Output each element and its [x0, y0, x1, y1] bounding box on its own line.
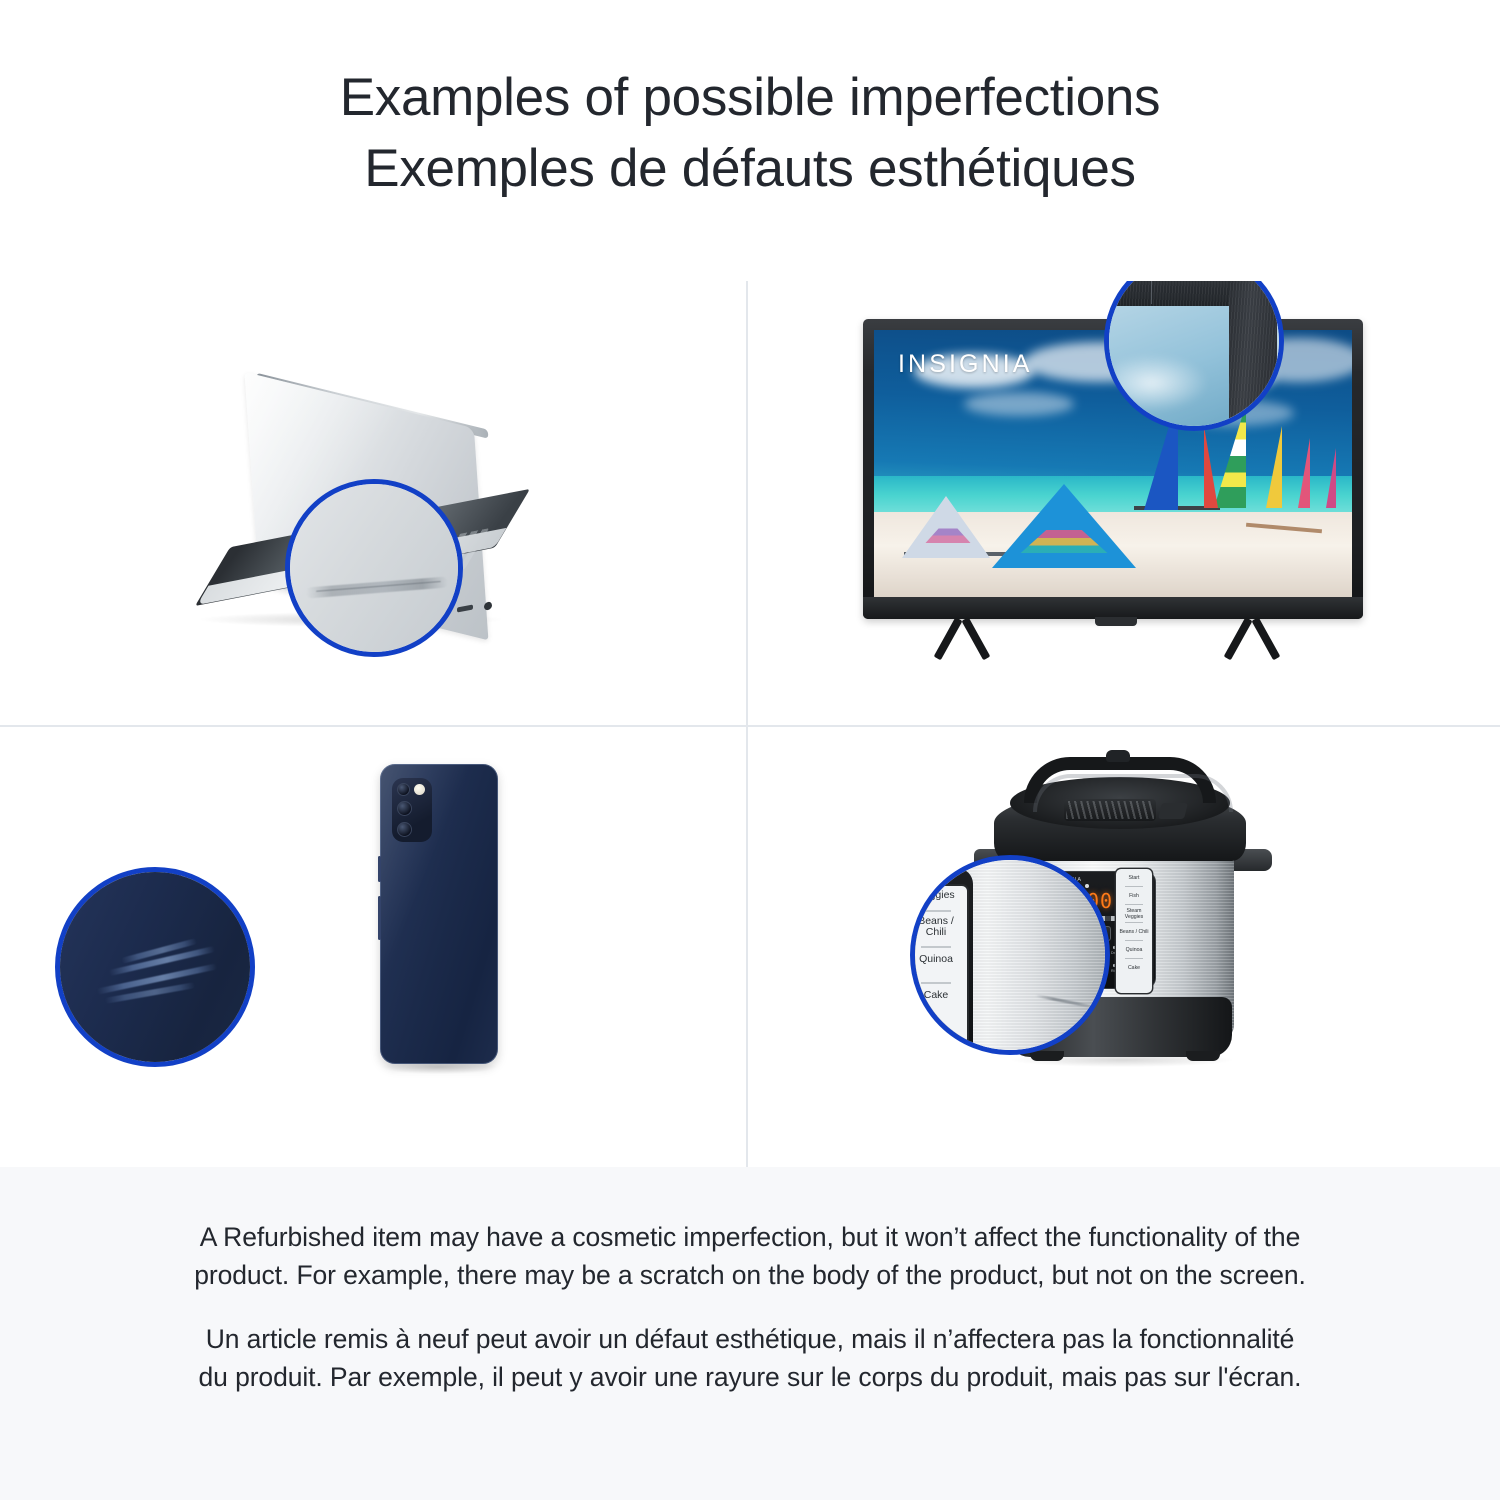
disclaimer-en: A Refurbished item may have a cosmetic i…: [190, 1219, 1310, 1294]
example-cell-laptop: [0, 281, 748, 727]
cooker-btn-steam-veggies[interactable]: Steam Veggies: [1119, 907, 1149, 920]
example-cell-tv: INSIGNIA: [748, 281, 1500, 727]
zoom-btn-veggies: Veggies: [910, 890, 963, 901]
phone-camera-module: [392, 778, 432, 842]
cooker-lid-handle[interactable]: [1024, 757, 1216, 803]
magnifier-laptop: [285, 479, 463, 657]
zoom-btn-quinoa: Quinoa: [910, 954, 963, 965]
disclaimer-fr: Un article remis à neuf peut avoir un dé…: [190, 1321, 1310, 1396]
example-cell-pressure-cooker: INSIGNIA 8:00 Less Normal More Slow Cook…: [748, 727, 1500, 1167]
camera-lens-icon: [397, 801, 412, 816]
camera-flash-icon: [414, 784, 425, 795]
page-title-fr: Exemples de défauts esthétiques: [0, 133, 1500, 204]
camera-lens-icon: [397, 822, 412, 837]
footer-disclaimer: A Refurbished item may have a cosmetic i…: [0, 1167, 1500, 1500]
tv-leg-right: [1211, 619, 1299, 661]
magnifier-tv: [1104, 281, 1284, 431]
page-header: Examples of possible imperfections Exemp…: [0, 0, 1500, 204]
cooker-pressure-valve-icon[interactable]: [1106, 750, 1130, 762]
zoom-btn-cake: Cake: [910, 990, 963, 1001]
zoom-label-slow-cook: Slow Cook: [910, 980, 919, 989]
pressure-cooker-illustration: INSIGNIA 8:00 Less Normal More Slow Cook…: [748, 727, 1500, 1167]
example-cell-phone: [0, 727, 748, 1167]
cooker-btn-cake[interactable]: Cake: [1119, 961, 1149, 974]
usb-port-icon: [457, 604, 473, 612]
magnifier-pressure-cooker: Veggies Beans / Chili Quinoa Cake Delay …: [910, 855, 1110, 1055]
tv-insignia-wordmark: INSIGNIA: [898, 350, 1033, 379]
cooker-btn-start[interactable]: Start: [1119, 871, 1149, 884]
cooker-btn-beans-chili[interactable]: Beans / Chili: [1119, 925, 1149, 938]
tv-bottom-bezel: [863, 597, 1363, 619]
cooker-right-button-strip[interactable]: Start Fish Steam Veggies Beans / Chili Q…: [1116, 869, 1152, 993]
tv-leg-left: [921, 619, 1009, 661]
tv-ir-receiver-icon: [1095, 617, 1137, 626]
zoom-btn-beans-chili: Beans / Chili: [910, 916, 963, 938]
cooker-btn-quinoa[interactable]: Quinoa: [1119, 943, 1149, 956]
laptop-scratch: [306, 576, 448, 598]
page-title-en: Examples of possible imperfections: [0, 62, 1500, 133]
examples-grid: INSIGNIA: [0, 281, 1500, 1167]
cooker-btn-fish[interactable]: Fish: [1119, 889, 1149, 902]
magnifier-phone: [55, 867, 255, 1067]
audio-port-icon: [484, 601, 492, 611]
laptop-illustration: [0, 281, 746, 725]
phone-illustration: [0, 727, 746, 1167]
camera-lens-icon: [397, 783, 410, 796]
tv-illustration: INSIGNIA: [748, 281, 1500, 725]
